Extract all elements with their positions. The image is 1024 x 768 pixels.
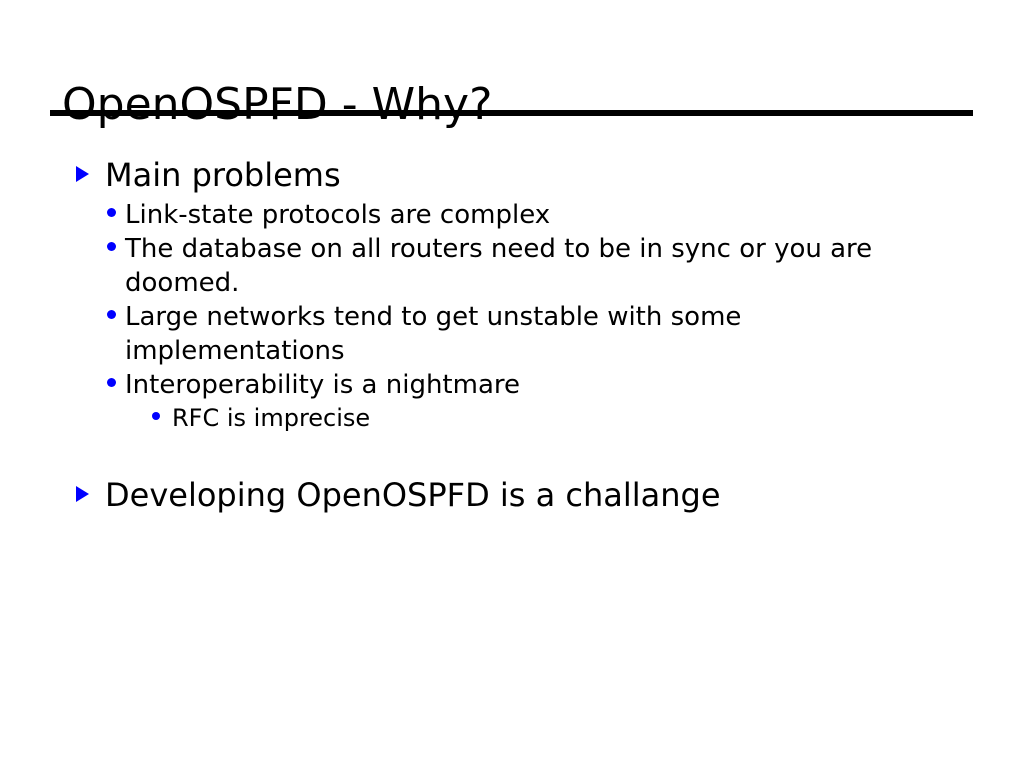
slide-canvas: OpenOSPFD - Why? Main problems Link-stat…	[0, 0, 1024, 768]
triangle-bullet-icon	[76, 155, 105, 196]
bullet-item-level3: RFC is imprecise	[0, 402, 1024, 434]
blank-line	[0, 434, 1024, 475]
bullet-text: Large networks tend to get unstable with…	[125, 300, 885, 368]
dot-bullet-icon	[107, 368, 125, 402]
bullet-text: The database on all routers need to be i…	[125, 232, 885, 300]
dot-bullet-icon	[152, 402, 172, 434]
triangle-bullet-icon	[76, 475, 105, 516]
bullet-text: Interoperability is a nightmare	[125, 368, 520, 402]
bullet-item-level2: Large networks tend to get unstable with…	[0, 300, 1024, 368]
bullet-item-level2: Link-state protocols are complex	[0, 198, 1024, 232]
dot-bullet-icon	[107, 232, 125, 266]
page-title: OpenOSPFD - Why?	[62, 79, 492, 131]
bullet-text: Main problems	[105, 155, 341, 196]
bullet-item-level1: Main problems	[0, 155, 1024, 196]
dot-bullet-icon	[107, 198, 125, 232]
bullet-text: Developing OpenOSPFD is a challange	[105, 475, 721, 516]
slide-body: Main problems Link-state protocols are c…	[0, 155, 1024, 518]
bullet-text: RFC is imprecise	[172, 402, 370, 434]
bullet-item-level1: Developing OpenOSPFD is a challange	[0, 475, 1024, 516]
bullet-item-level2: The database on all routers need to be i…	[0, 232, 1024, 300]
bullet-text: Link-state protocols are complex	[125, 198, 550, 232]
title-divider	[50, 110, 973, 116]
dot-bullet-icon	[107, 300, 125, 334]
bullet-item-level2: Interoperability is a nightmare	[0, 368, 1024, 402]
